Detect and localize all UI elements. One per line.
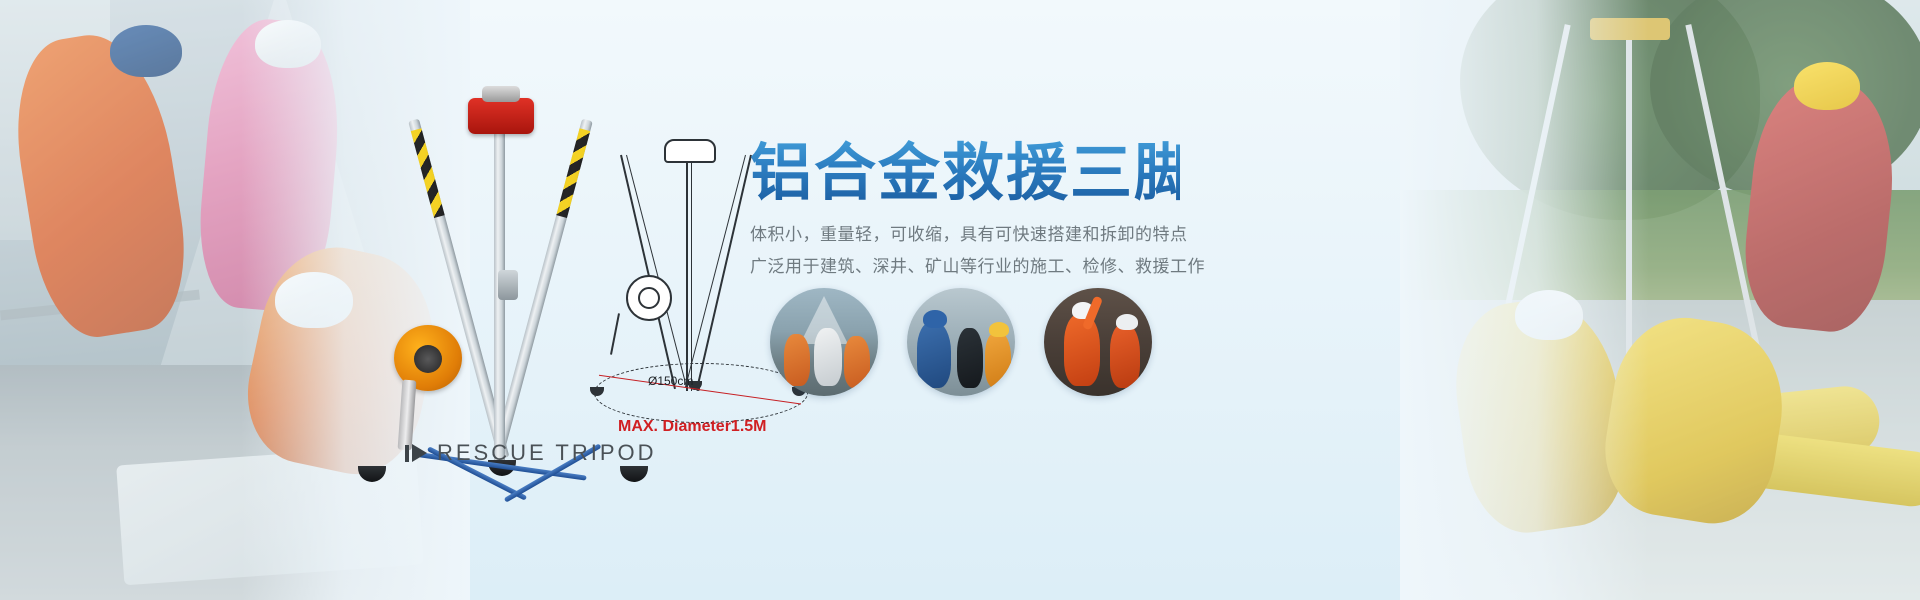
page-title: 铝合金救援三脚架 (750, 140, 1180, 205)
thumbnail-gallery (770, 288, 1152, 396)
drawing-leg-left-inner (626, 155, 687, 388)
drawing-winch-core (638, 287, 660, 309)
rescue-tripod-label-text: RESCUE TRIPOD (437, 440, 657, 466)
tripod-head-cap (482, 86, 520, 102)
right-photo-panel (1400, 0, 1920, 600)
banner-text-block: 铝合金救援三脚架 体积小，重量轻，可收缩，具有可快速搭建和拆卸的特点 广泛用于建… (750, 140, 1180, 283)
rescue-tripod-label: RESCUE TRIPOD (405, 440, 657, 466)
thumb-figure (917, 322, 951, 388)
tripod-head (468, 98, 534, 134)
drawing-leg-center (686, 155, 688, 391)
thumbnail-confined-space-rescue-scene[interactable] (1044, 288, 1152, 396)
diameter-label: Ø150cm (648, 374, 693, 388)
thumb-figure (844, 336, 870, 388)
thumb-figure (784, 334, 810, 386)
thumb-figure (985, 332, 1011, 388)
right-photo-fade (1400, 0, 1649, 600)
drawing-leg-right-inner (685, 155, 746, 388)
thumb-figure (1110, 324, 1140, 388)
thumb-helmet (1116, 314, 1138, 330)
play-marker-icon (405, 444, 427, 462)
tripod-winch-core (414, 345, 442, 373)
thumbnail-rescue-training-scene[interactable] (770, 288, 878, 396)
max-diameter-label: MAX. Diameter1.5M (618, 418, 767, 436)
thumb-figure (957, 328, 983, 388)
drawing-leg-center-inner (691, 155, 692, 391)
thumb-figure (814, 328, 842, 386)
thumb-helmet (989, 322, 1009, 337)
subtitle-line-2: 广泛用于建筑、深井、矿山等行业的施工、检修、救援工作 (750, 253, 1180, 283)
tripod-leg-stripe (556, 128, 590, 218)
drawing-leg-right (696, 155, 752, 389)
product-tripod-photo (370, 80, 630, 480)
drawing-head (664, 139, 716, 163)
thumbnail-site-inspection-scene[interactable] (907, 288, 1015, 396)
drawing-leg-left (620, 155, 676, 389)
subtitle-line-1: 体积小，重量轻，可收缩，具有可快速搭建和拆卸的特点 (750, 221, 1180, 251)
tripod-leg-stripe (411, 128, 445, 218)
product-banner: RESCUE TRIPOD Ø150cm MAX. Diameter1.5M 铝… (0, 0, 1920, 600)
thumb-helmet (923, 310, 947, 328)
tripod-pulley (498, 270, 518, 300)
drawing-winch-handle (610, 313, 620, 355)
tripod-foot-right (620, 466, 648, 482)
